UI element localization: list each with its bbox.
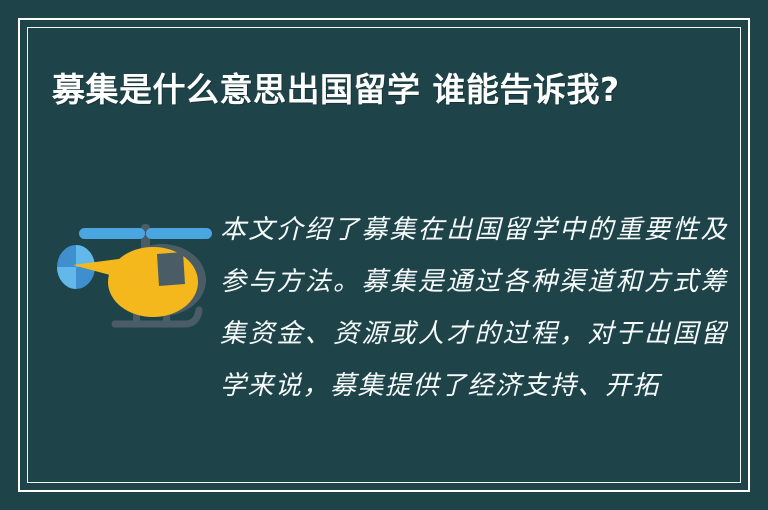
main-rotor-left-icon [79, 228, 145, 239]
article-card: 募集是什么意思出国留学 谁能告诉我? [0, 0, 768, 510]
content-area: 本文介绍了募集在出国留学中的重要性及参与方法。募集是通过各种渠道和方式筹集资金、… [40, 200, 728, 476]
main-rotor-right-icon [146, 228, 212, 239]
cockpit-window-icon [157, 252, 185, 286]
body-paragraph: 本文介绍了募集在出国留学中的重要性及参与方法。募集是通过各种渠道和方式筹集资金、… [220, 204, 728, 412]
helicopter-icon [45, 212, 215, 342]
page-title: 募集是什么意思出国留学 谁能告诉我? [52, 62, 692, 117]
body-text-container: 本文介绍了募集在出国留学中的重要性及参与方法。募集是通过各种渠道和方式筹集资金、… [220, 200, 728, 412]
illustration-container [40, 200, 220, 342]
page-title-text: 募集是什么意思出国留学 谁能告诉我? [52, 62, 692, 117]
